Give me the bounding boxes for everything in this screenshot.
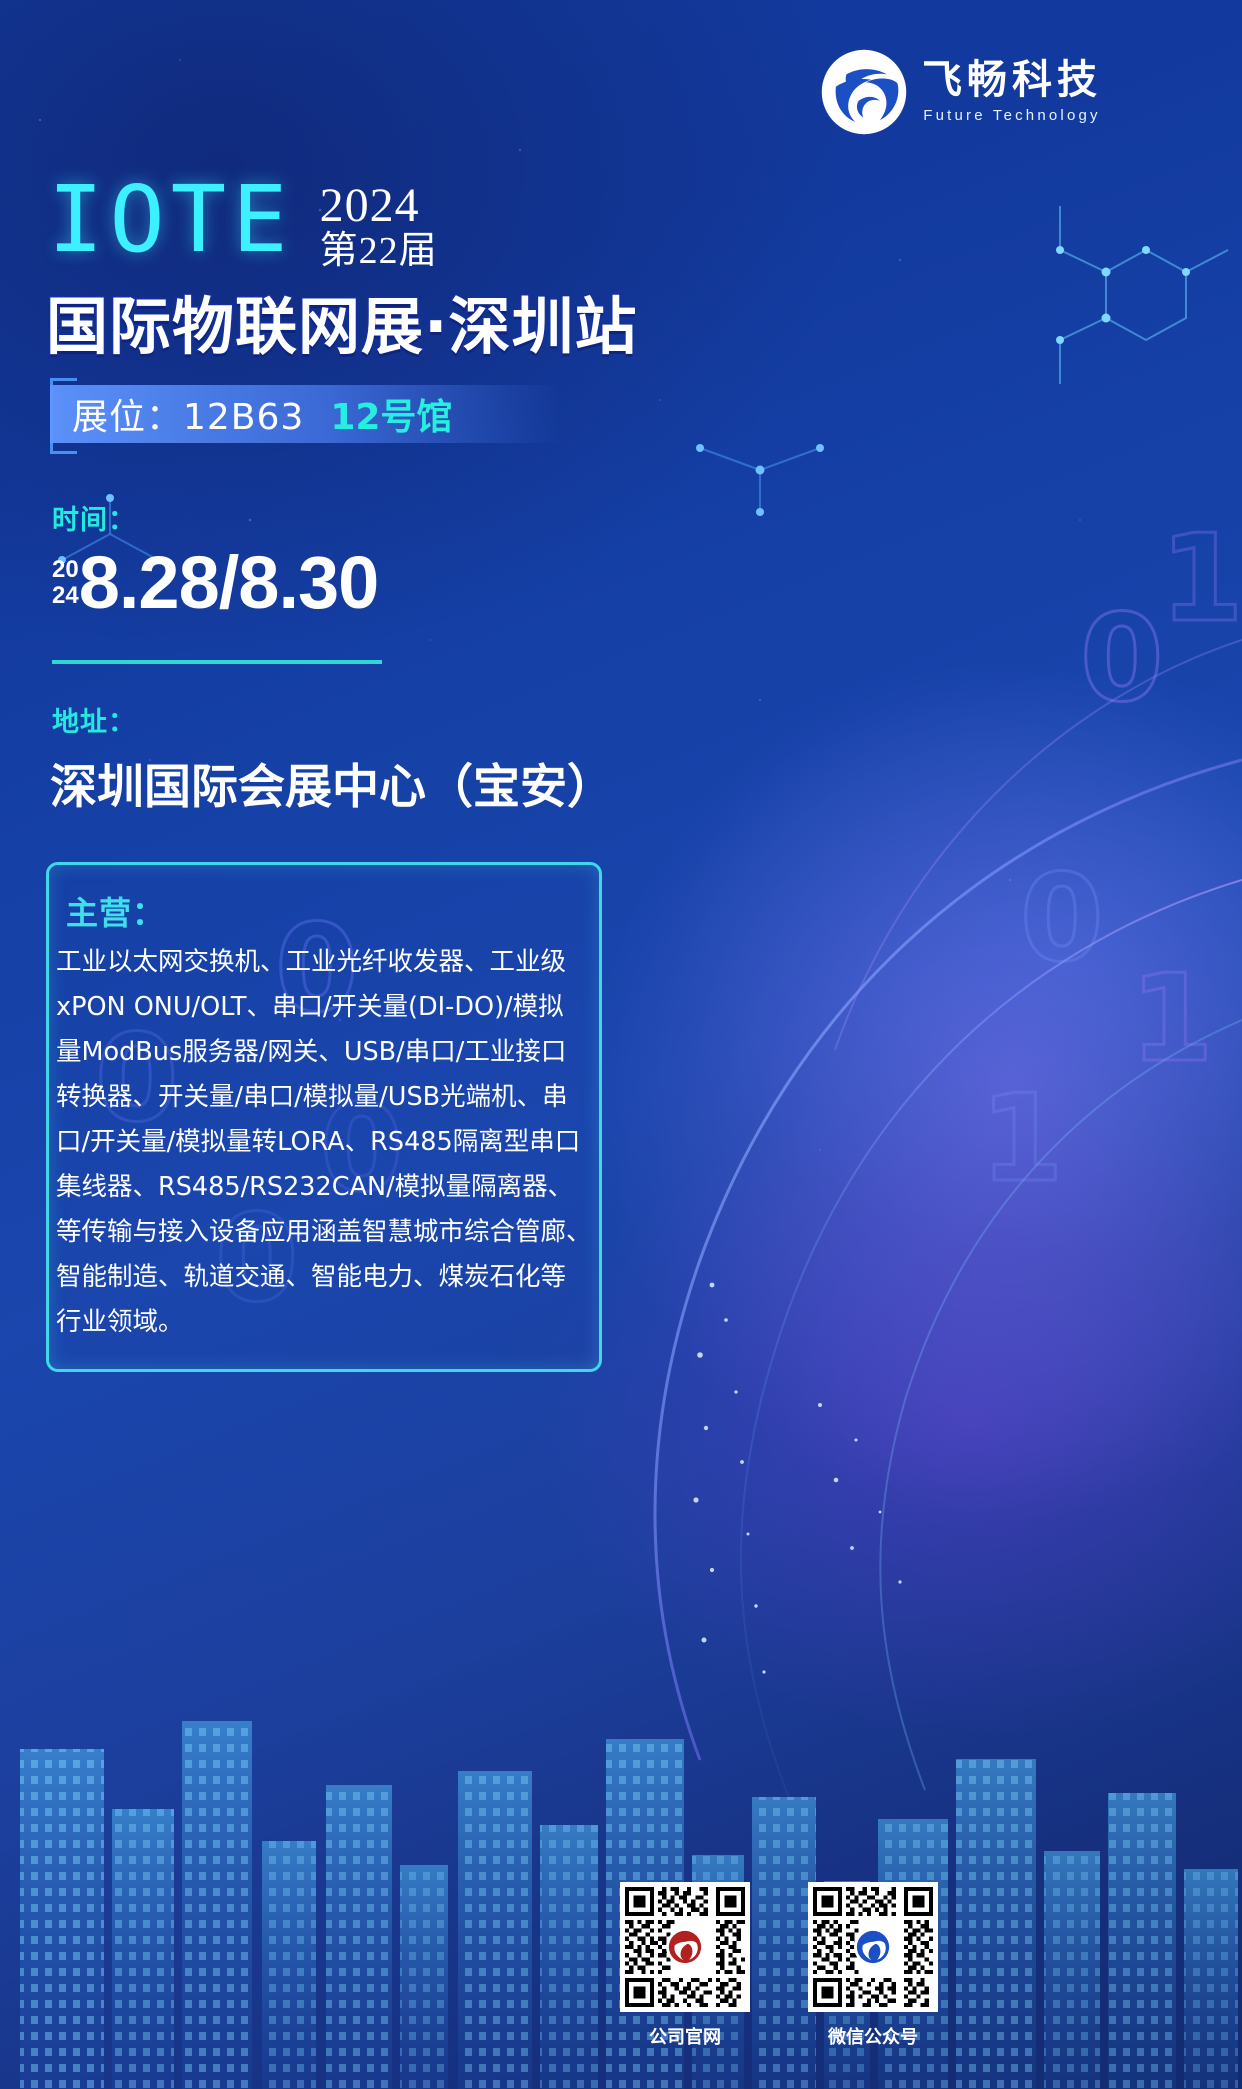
products-line: 量ModBus服务器/网关、USB/串口/工业接口 [56,1030,586,1075]
svg-text:1: 1 [1130,950,1214,1089]
qr-item-wechat: 微信公众号 [808,1882,938,2049]
time-year-bottom: 24 [52,583,79,610]
products-line: 行业领域。 [56,1300,586,1345]
event-acronym: IOTE [48,178,294,263]
qr-caption-wechat: 微信公众号 [828,2023,918,2049]
products-line: xPON ONU/OLT、串口/开关量(DI-DO)/模拟 [56,985,586,1030]
brand-name-en: Future Technology [923,107,1101,124]
products-body: 工业以太网交换机、工业光纤收发器、工业级 xPON ONU/OLT、串口/开关量… [56,940,586,1345]
svg-text:1: 1 [980,1070,1064,1209]
section-divider [52,660,382,664]
time-date-range: 8.28/8.30 [79,548,379,618]
products-line: 智能制造、轨道交通、智能电力、煤炭石化等 [56,1255,586,1300]
products-line: 转换器、开关量/串口/模拟量/USB光端机、串 [56,1075,586,1120]
svg-text:0: 0 [1080,590,1164,729]
products-line: 口/开关量/模拟量转LORA、RS485隔离型串口 [56,1120,586,1165]
brand-logo: 飞畅科技 Future Technology [820,48,1102,136]
svg-text:0: 0 [1020,850,1104,989]
qr-item-website: 公司官网 [620,1882,750,2049]
qr-caption-website: 公司官网 [649,2023,721,2049]
feichang-logo-red-icon [666,1928,704,1966]
address-label: 地址： [52,700,136,739]
event-edition: 第22届 [320,231,438,272]
qr-code-group: 公司官网 [620,1882,938,2049]
feichang-logo-blue-icon [854,1928,892,1966]
brand-name-cn: 飞畅科技 [922,60,1102,100]
products-line: 工业以太网交换机、工业光纤收发器、工业级 [56,940,586,985]
feichang-bird-circle-logo-icon [820,48,908,136]
products-line: 等传输与接入设备应用涵盖智慧城市综合管廊、 [56,1210,586,1255]
time-year-top: 20 [52,557,79,584]
qr-code-wechat[interactable] [808,1882,938,2012]
time-value-row: 20 24 8.28/8.30 [52,548,378,618]
event-title-cn: 国际物联网展·深圳站 [46,276,638,366]
products-title: 主营： [66,888,165,934]
poster-canvas: 0 1 0 1 1 0 0 0 0 飞畅科技 Future Technology… [0,0,1242,2089]
svg-text:1: 1 [1160,510,1242,649]
booth-number: 展位：12B63 [72,388,304,440]
event-year: 2024 [320,182,438,231]
booth-band: 展位：12B63 12号馆 [50,385,560,443]
time-label: 时间： [52,498,136,537]
products-line: 集线器、RS485/RS232CAN/模拟量隔离器、 [56,1165,586,1210]
address-venue: 深圳国际会展中心（宝安） [50,748,614,817]
event-title-block: IOTE 2024 第22届 [48,178,438,272]
qr-code-website[interactable] [620,1882,750,2012]
booth-hall: 12号馆 [330,388,452,440]
